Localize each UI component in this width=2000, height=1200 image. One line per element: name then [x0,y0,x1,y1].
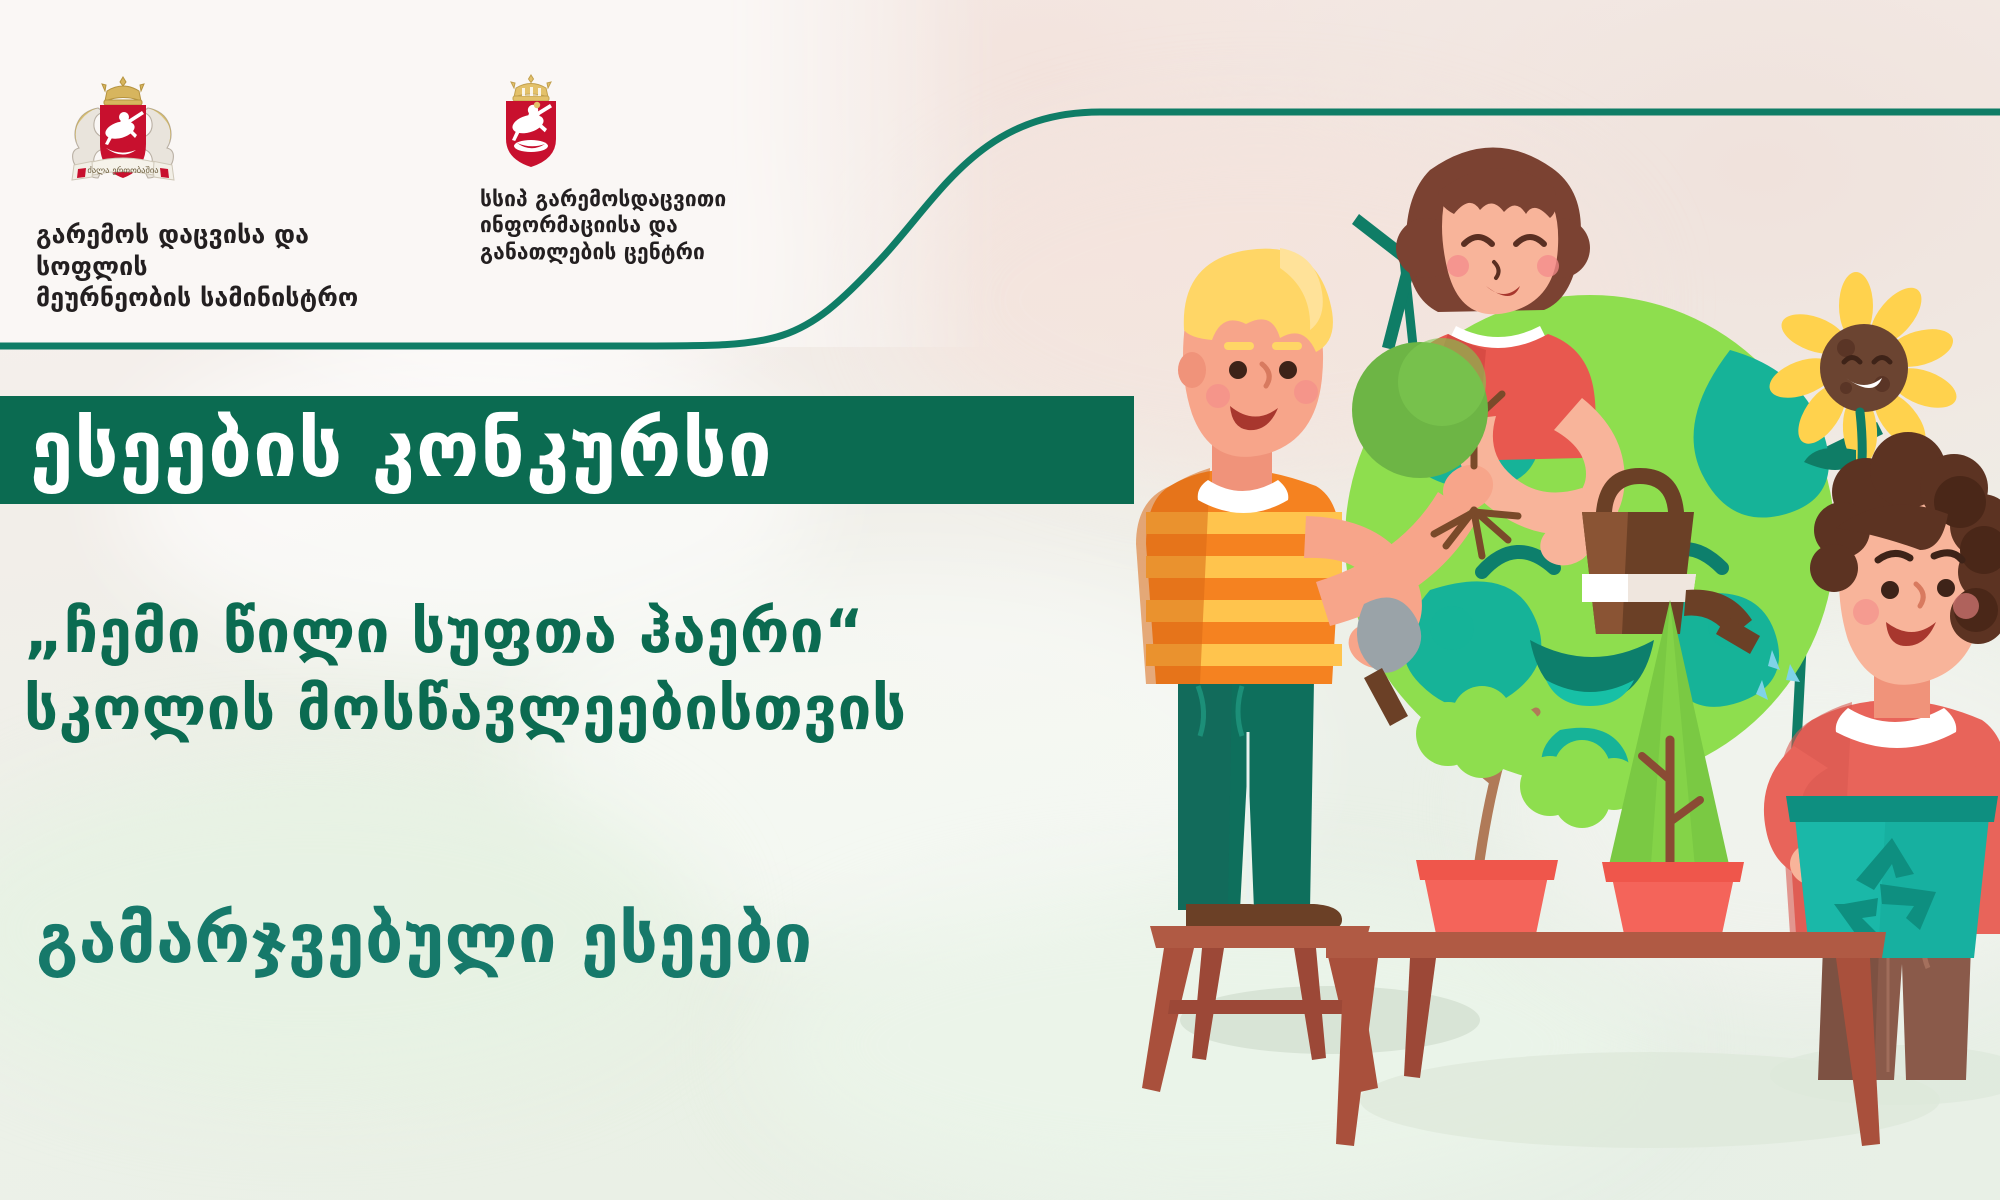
georgia-coat-of-arms-full-icon: ძალა ერთობაშია [58,70,188,205]
title-banner: ესეების კონკურსი [0,396,1134,504]
subtitle-line-1: „ჩემი წილი სუფთა ჰაერი“ [24,597,864,667]
ground-shadow [1180,986,1480,1054]
georgia-small-coat-of-arms-icon [490,72,572,172]
crest-wrap: ძალა ერთობაშია [36,70,366,205]
logo-ministry: ძალა ერთობაშია გარემოს დაცვისა და სოფლის… [36,70,366,314]
logo-eiec: სსიპ გარემოსდაცვითი ინფორმაციისა და განა… [480,72,840,265]
subtitle-line-2: სკოლის მოსწავლეებისთვის [24,671,1224,748]
subtitle-block: „ჩემი წილი სუფთა ჰაერი“ სკოლის მოსწავლეე… [24,594,1224,748]
page-title: ესეების კონკურსი [0,411,773,489]
bottom-heading: გამარჯვებული ესეები [36,906,813,974]
crest-wrap [480,72,840,172]
illustration-kids-planting-earth [1130,120,2000,1200]
logo-eiec-name: სსიპ გარემოსდაცვითი ინფორმაციისა და განა… [480,186,840,265]
svg-text:ძალა ერთობაშია: ძალა ერთობაშია [87,165,158,176]
poster-canvas: ძალა ერთობაშია გარემოს დაცვისა და სოფლის… [0,0,2000,1200]
logo-ministry-name: გარემოს დაცვისა და სოფლის მეურნეობის სამ… [36,219,366,314]
